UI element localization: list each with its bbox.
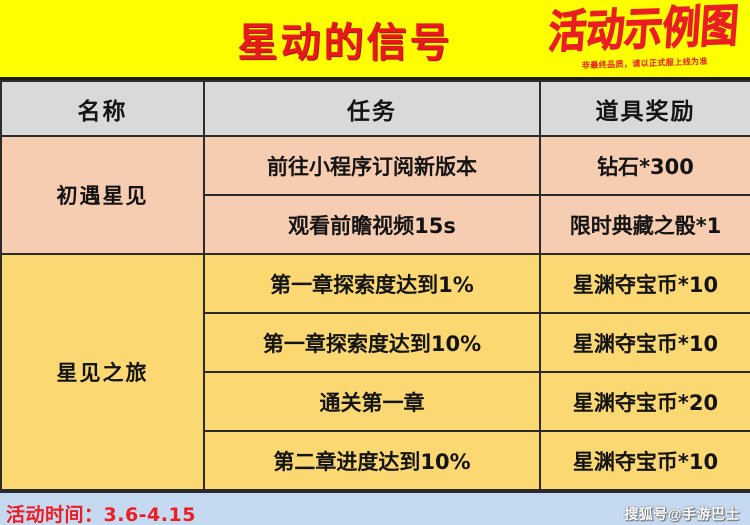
award-cell: 星渊夺宝币*10 [540, 254, 750, 313]
reward-table: 名称 任务 道具奖励 初遇星见 前往小程序订阅新版本 钻石*300 观看前瞻视频… [0, 80, 750, 491]
page-title: 星动的信号 [238, 10, 453, 68]
group-name-cell: 星见之旅 [1, 254, 204, 490]
column-header-task: 任务 [204, 81, 540, 136]
task-cell: 观看前瞻视频15s [204, 195, 540, 254]
table-body: 初遇星见 前往小程序订阅新版本 钻石*300 观看前瞻视频15s 限时典藏之骰*… [1, 136, 750, 490]
award-cell: 星渊夺宝币*20 [540, 372, 750, 431]
table-header-row: 名称 任务 道具奖励 [1, 81, 750, 136]
task-cell: 第一章探索度达到1% [204, 254, 540, 313]
task-cell: 前往小程序订阅新版本 [204, 136, 540, 195]
table-header: 名称 任务 道具奖励 [1, 81, 750, 136]
source-watermark: 搜狐号@手游巴士 [624, 504, 740, 524]
award-cell: 限时典藏之骰*1 [540, 195, 750, 254]
title-banner: 星动的信号 活动示例图 非最终品质，请以正式服上线为准 [0, 0, 750, 80]
footer-bar: 活动时间：3.6-4.15 搜狐号@手游巴士 [0, 491, 750, 525]
task-cell: 第一章探索度达到10% [204, 313, 540, 372]
award-cell: 星渊夺宝币*10 [540, 313, 750, 372]
task-cell: 第二章进度达到10% [204, 431, 540, 490]
stamp-sub-text: 非最终品质，请以正式服上线为准 [582, 56, 708, 72]
table-row: 初遇星见 前往小程序订阅新版本 钻石*300 [1, 136, 750, 195]
award-cell: 钻石*300 [540, 136, 750, 195]
stamp-main-text: 活动示例图 [547, 2, 740, 56]
activity-time-label: 活动时间：3.6-4.15 [0, 500, 196, 525]
example-image-stamp: 活动示例图 非最终品质，请以正式服上线为准 [545, 0, 743, 79]
column-header-award: 道具奖励 [540, 81, 750, 136]
award-cell: 星渊夺宝币*10 [540, 431, 750, 490]
activity-poster: 星动的信号 活动示例图 非最终品质，请以正式服上线为准 名称 任务 道具奖励 初… [0, 0, 750, 525]
column-header-name: 名称 [1, 81, 204, 136]
table-row: 星见之旅 第一章探索度达到1% 星渊夺宝币*10 [1, 254, 750, 313]
task-cell: 通关第一章 [204, 372, 540, 431]
group-name-cell: 初遇星见 [1, 136, 204, 254]
